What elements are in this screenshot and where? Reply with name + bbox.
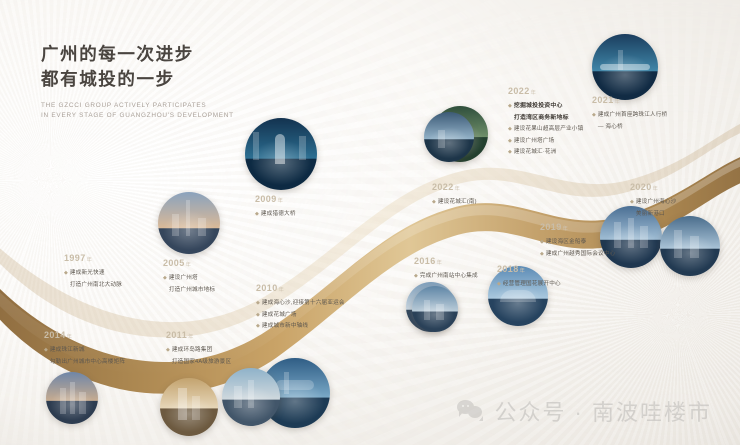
year-suffix: 年 [563,224,569,235]
list-item: ◆打造国家4A级旅游景区 [166,357,231,368]
milestone-items: ◆建成环岛路集团 ◆打造国家4A级旅游景区 [166,345,231,367]
year-suffix: 年 [186,260,192,271]
bullet-icon: ◆ [630,197,634,208]
list-item: ◆美丽新港口 [630,209,676,220]
year-value: 2010 [256,283,278,294]
year-value: 2011 [166,330,187,341]
milestone-items: ◆挖掘城投投资中心 ◆打造湾区商务新地标 ◆建设花果山超高层产业小镇 ◆建设广州… [508,101,583,158]
list-item: ◆建成新光快速 [64,268,122,279]
headline-block: 广州的每一次进步 都有城投的一步 THE GZCCI GROUP ACTIVEL… [41,42,234,121]
headline-line-2: 都有城投的一步 [41,67,234,92]
bullet-icon: ◆ [508,147,512,158]
subtitle-en-line-1: THE GZCCI GROUP ACTIVELY PARTICIPATES [41,101,234,111]
milestone-items: ◆经营管理国花展开中心 [497,279,561,290]
bullet-icon: ◆ [256,321,260,332]
milestone-year: 2018 年 [497,264,561,277]
year-suffix: 年 [615,97,621,108]
bubble-large-tail [459,412,463,417]
photo-node-2023[interactable] [660,216,720,276]
list-item: ◆建成珠江新城 [44,345,125,356]
wechat-watermark: 公众号 · 南波哇楼市 [457,395,712,427]
bullet-icon: ◆ [432,197,436,208]
bullet-icon: ◆ [256,310,260,321]
year-suffix: 年 [520,266,526,277]
list-item: ◆建成海心沙,迎接第十六届亚运会 [256,298,345,309]
bullet-icon: ◆ [508,136,512,147]
bullet-icon: ◆ [508,124,512,135]
list-item: ◆建成广州首座跨珠江人行桥 [592,110,667,121]
milestone-cluster-2014: 2014 年 ◆建成珠江新城 ◆勾勒出广州城市中心高楼矩阵 [44,330,125,368]
milestone-cluster-2021: 2021 年 ◆建成广州首座跨珠江人行桥 ◆— 海心桥 [592,95,667,133]
list-item: ◆建设广州海心沙 [630,197,676,208]
photo-node-1997[interactable] [46,372,98,424]
bullet-icon: ◆ [540,237,544,248]
list-item: ◆打造湾区商务新地标 [508,113,583,124]
milestone-items: ◆完成广州南站中心集成 [414,271,478,282]
milestone-cluster-2005: 2005 年 ◆建设广州塔 ◆打造广州城市地标 [163,258,215,296]
milestone-items: ◆建设海区金船泰 ◆建成广州越秀国际会议中心 [540,237,615,259]
milestone-cluster-2022b: 2022 年 ◆建设花城汇(南) [432,182,477,209]
bullet-icon: ◆ [497,279,501,290]
milestone-cluster-2019: 2019 年 ◆建设海区金船泰 ◆建成广州越秀国际会议中心 [540,222,615,260]
milestone-cluster-2010: 2010 年 ◆建成海心沙,迎接第十六届亚运会 ◆建成花城广场 ◆建成城市新中轴… [256,283,345,333]
list-item: ◆勾勒出广州城市中心高楼矩阵 [44,357,125,368]
list-item: ◆建成花城广场 [256,310,345,321]
watermark-text: 公众号 · 南波哇楼市 [494,395,712,427]
photo-node-2011[interactable] [222,368,280,426]
milestone-cluster-2022: 2022 年 ◆挖掘城投投资中心 ◆打造湾区商务新地标 ◆建设花果山超高层产业小… [508,86,583,159]
year-suffix: 年 [278,196,284,207]
year-value: 2020 [630,182,652,193]
list-item: ◆完成广州南站中心集成 [414,271,478,282]
photo-node-2018[interactable] [412,286,458,332]
list-item: ◆建设花城汇(南) [432,197,477,208]
milestone-items: ◆建成珠江新城 ◆勾勒出广州城市中心高楼矩阵 [44,345,125,367]
bullet-icon: ◆ [163,273,167,284]
year-suffix: 年 [437,258,443,269]
list-item: ◆建设广州塔 [163,273,215,284]
year-suffix: 年 [531,88,537,99]
milestone-year: 2020 年 [630,182,676,195]
year-suffix: 年 [455,184,461,195]
list-item: ◆经营管理国花展开中心 [497,279,561,290]
subtitle-en-line-2: IN EVERY STAGE OF GUANGZHOU'S DEVELOPMEN… [41,111,234,121]
bullet-icon: ◆ [166,345,170,356]
milestone-year: 2022 年 [508,86,583,99]
milestone-cluster-2016: 2016 年 ◆完成广州南站中心集成 [414,256,478,283]
milestone-year: 2005 年 [163,258,215,271]
poster-canvas: 广州的每一次进步 都有城投的一步 THE GZCCI GROUP ACTIVEL… [0,0,740,445]
list-item: ◆打造广州城市地标 [163,285,215,296]
year-suffix: 年 [653,184,659,195]
milestone-items: ◆建成广州首座跨珠江人行桥 ◆— 海心桥 [592,110,667,132]
year-value: 2005 [163,258,185,269]
milestone-year: 2009 年 [255,194,296,207]
year-suffix: 年 [87,255,93,266]
bullet-icon: ◆ [508,101,512,112]
milestone-items: ◆建设广州海心沙 ◆美丽新港口 [630,197,676,219]
list-item: ◆建设花果山超高层产业小镇 [508,124,583,135]
bullet-icon: ◆ [44,345,48,356]
list-item: ◆建设花城汇·花洲 [508,147,583,158]
photo-node-2005[interactable] [158,192,220,254]
milestone-year: 2016 年 [414,256,478,269]
bullet-icon: ◆ [256,298,260,309]
milestone-year: 2019 年 [540,222,615,235]
photo-node-2014[interactable] [160,378,218,436]
list-item: ◆建成猎德大桥 [255,209,296,220]
milestone-year: 2021 年 [592,95,667,108]
milestone-cluster-1997: 1997 年 ◆建成新光快速 ◆打造广州南北大动脉 [64,253,122,291]
year-suffix: 年 [279,285,285,296]
year-value: 2022 [432,182,454,193]
milestone-cluster-2020: 2020 年 ◆建设广州海心沙 ◆美丽新港口 [630,182,676,220]
milestone-items: ◆建设广州塔 ◆打造广州城市地标 [163,273,215,295]
headline-line-1: 广州的每一次进步 [41,42,234,67]
milestone-items: ◆建成海心沙,迎接第十六届亚运会 ◆建成花城广场 ◆建成城市新中轴线 [256,298,345,332]
year-value: 2018 [497,264,519,275]
list-item: ◆打造广州南北大动脉 [64,280,122,291]
bullet-icon: ◆ [64,268,68,279]
milestone-year: 2011 年 [166,330,231,343]
list-item: ◆建成城市新中轴线 [256,321,345,332]
milestone-cluster-2011: 2011 年 ◆建成环岛路集团 ◆打造国家4A级旅游景区 [166,330,231,368]
year-value: 1997 [64,253,86,264]
list-item: ◆建设广州塔广场 [508,136,583,147]
photo-node-2022b[interactable] [424,112,474,162]
wechat-bubbles-icon [457,400,485,422]
year-value: 2016 [414,256,436,267]
list-item: ◆建成环岛路集团 [166,345,231,356]
list-item: ◆挖掘城投投资中心 [508,101,583,112]
year-value: 2022 [508,86,530,97]
year-value: 2021 [592,95,614,106]
milestone-year: 2014 年 [44,330,125,343]
photo-node-2009[interactable] [245,118,317,190]
bullet-icon: ◆ [540,249,544,260]
year-value: 2019 [540,222,562,233]
milestone-cluster-2018: 2018 年 ◆经营管理国花展开中心 [497,264,561,291]
bubble-small-tail [479,416,483,421]
milestone-items: ◆建成新光快速 ◆打造广州南北大动脉 [64,268,122,290]
milestone-year: 2010 年 [256,283,345,296]
list-item: ◆— 海心桥 [592,122,667,133]
year-suffix: 年 [67,332,73,343]
milestone-year: 2022 年 [432,182,477,195]
milestone-items: ◆建设花城汇(南) [432,197,477,208]
year-value: 2014 [44,330,66,341]
photo-node-2021[interactable] [592,34,658,100]
list-item: ◆建成广州越秀国际会议中心 [540,249,615,260]
headline-subtitle-en: THE GZCCI GROUP ACTIVELY PARTICIPATES IN… [41,101,234,121]
bullet-icon: ◆ [592,110,596,121]
bullet-icon: ◆ [414,271,418,282]
milestone-year: 1997 年 [64,253,122,266]
bullet-icon: ◆ [255,209,259,220]
milestone-items: ◆建成猎德大桥 [255,209,296,220]
year-value: 2009 [255,194,277,205]
year-suffix: 年 [188,332,194,343]
milestone-cluster-2009: 2009 年 ◆建成猎德大桥 [255,194,296,221]
list-item: ◆建设海区金船泰 [540,237,615,248]
